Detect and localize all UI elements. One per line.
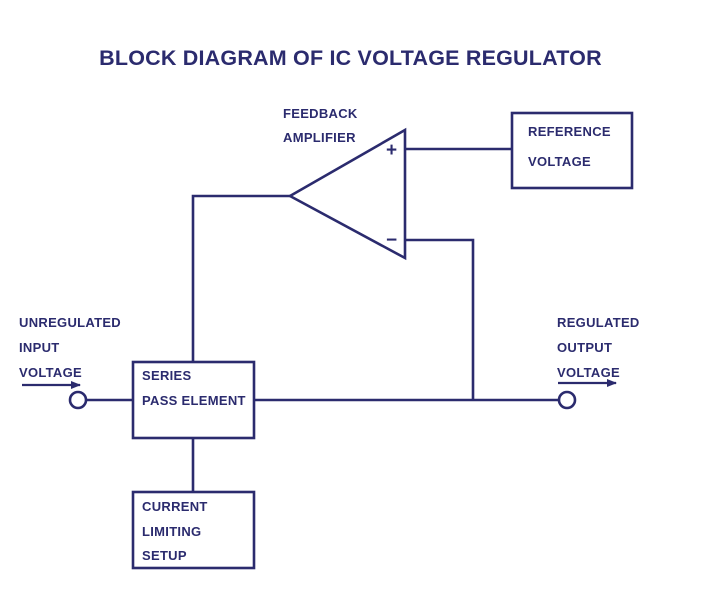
- wire-output-sense-to-amplifier-minus: [405, 240, 473, 400]
- output-terminal-label-line1: REGULATED: [557, 316, 640, 329]
- amplifier-plus-sign: +: [386, 141, 397, 160]
- output-terminal-label-line2: OUTPUT: [557, 341, 612, 354]
- series-pass-element-label-line1: SERIES: [142, 369, 191, 382]
- series-pass-element-label-line2: PASS ELEMENT: [142, 394, 246, 407]
- amplifier-minus-sign: −: [386, 231, 397, 250]
- feedback-amplifier-label-line1: FEEDBACK: [283, 107, 358, 120]
- input-terminal-label-line3: VOLTAGE: [19, 366, 82, 379]
- diagram-drawing: [0, 0, 701, 590]
- reference-voltage-label-line2: VOLTAGE: [528, 155, 591, 168]
- diagram-canvas: BLOCK DIAGRAM OF IC VOLTAGE REGULATOR: [0, 0, 701, 590]
- reference-voltage-label-line1: REFERENCE: [528, 125, 611, 138]
- current-limiting-setup-label-line1: CURRENT: [142, 500, 208, 513]
- wire-amplifier-to-series-pass: [193, 196, 290, 362]
- output-terminal-node: [559, 392, 575, 408]
- feedback-amplifier-label-line2: AMPLIFIER: [283, 131, 356, 144]
- output-terminal-label-line3: VOLTAGE: [557, 366, 620, 379]
- current-limiting-setup-label-line2: LIMITING: [142, 525, 201, 538]
- current-limiting-setup-label-line3: SETUP: [142, 549, 187, 562]
- input-terminal-label-line1: UNREGULATED: [19, 316, 121, 329]
- input-terminal-node: [70, 392, 86, 408]
- input-terminal-label-line2: INPUT: [19, 341, 60, 354]
